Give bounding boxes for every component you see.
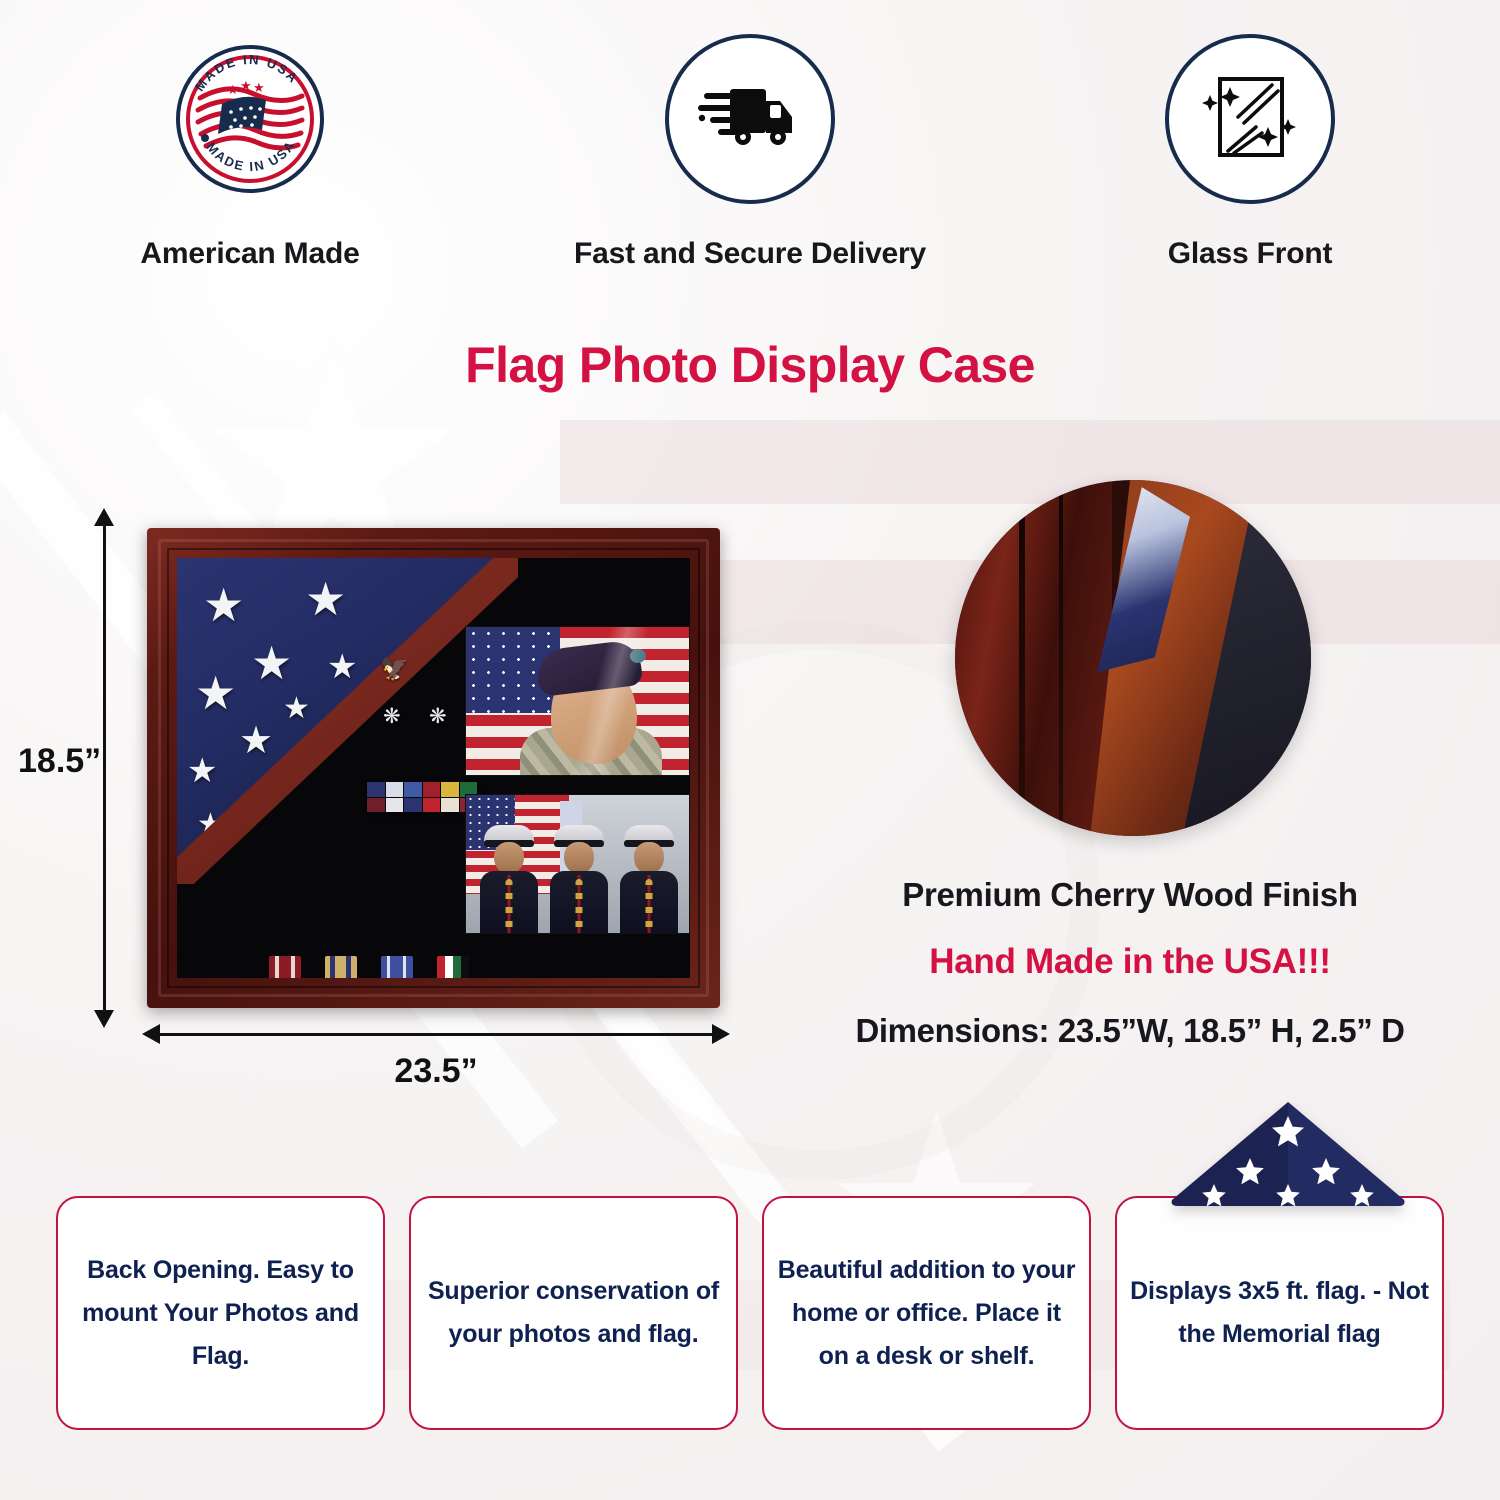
height-dimension-arrow <box>103 524 106 1012</box>
feature-fast-delivery: Fast and Secure Delivery <box>500 34 1000 276</box>
glass-pane-sparkle-icon <box>1165 34 1335 204</box>
marine-figure <box>550 825 608 933</box>
made-in-usa-badge-icon: ★ ★ ★ MADE IN USA MADE IN USA <box>165 34 335 204</box>
feature-box-flag-size[interactable]: Displays 3x5 ft. flag. - Not the Memoria… <box>1115 1196 1444 1430</box>
medal <box>381 956 415 978</box>
width-dimension-label: 23.5” <box>158 1052 714 1091</box>
medal <box>269 956 303 978</box>
case-interior: ★ ★ ★ ★ ★ ★ ★ ★ ★ 🦅 ❋ ❋ <box>177 558 690 978</box>
feature-glass-front: Glass Front <box>1000 34 1500 276</box>
marine-figure <box>480 825 538 933</box>
feature-box-back-opening[interactable]: Back Opening. Easy to mount Your Photos … <box>56 1196 385 1430</box>
case-photo-soldier <box>465 626 690 776</box>
medal <box>437 956 471 978</box>
feature-american-made: ★ ★ ★ MADE IN USA MADE IN USA American M… <box>0 34 500 276</box>
infographic-page: ★ ★ <box>0 0 1500 1500</box>
svg-text:★: ★ <box>240 78 252 93</box>
feature-label-fast-delivery: Fast and Secure Delivery <box>574 232 926 276</box>
delivery-truck-icon <box>665 34 835 204</box>
folded-flag-graphic <box>1168 1100 1408 1208</box>
feature-box-row: Back Opening. Easy to mount Your Photos … <box>56 1196 1444 1430</box>
width-dimension-arrow <box>158 1033 714 1036</box>
feature-box-text: Back Opening. Easy to mount Your Photos … <box>68 1249 373 1378</box>
product-display-case-image: ★ ★ ★ ★ ★ ★ ★ ★ ★ 🦅 ❋ ❋ <box>147 528 720 1008</box>
feature-box-conservation[interactable]: Superior conservation of your photos and… <box>409 1196 738 1430</box>
feature-label-glass-front: Glass Front <box>1168 232 1333 276</box>
case-photo-marines <box>465 794 690 934</box>
oak-leaf-insignia-icon: ❋ <box>429 704 447 729</box>
medal <box>325 956 359 978</box>
eagle-insignia-icon: 🦅 <box>380 655 405 682</box>
medal-row <box>269 956 471 978</box>
oak-leaf-insignia-icon: ❋ <box>383 704 401 729</box>
page-title: Flag Photo Display Case <box>0 336 1500 394</box>
detail-text-block: Premium Cherry Wood Finish Hand Made in … <box>780 876 1480 1050</box>
top-feature-strip: ★ ★ ★ MADE IN USA MADE IN USA American M… <box>0 34 1500 276</box>
detail-finish-label: Premium Cherry Wood Finish <box>780 876 1480 914</box>
feature-box-home-office[interactable]: Beautiful addition to your home or offic… <box>762 1196 1091 1430</box>
case-wood-frame: ★ ★ ★ ★ ★ ★ ★ ★ ★ 🦅 ❋ ❋ <box>147 528 720 1008</box>
marine-figure <box>620 825 678 933</box>
feature-label-american-made: American Made <box>140 232 359 276</box>
detail-dimensions-label: Dimensions: 23.5”W, 18.5” H, 2.5” D <box>780 1012 1480 1050</box>
svg-text:★: ★ <box>253 80 265 95</box>
ribbon-bar <box>367 782 477 812</box>
detail-handmade-label: Hand Made in the USA!!! <box>780 942 1480 982</box>
svg-text:★: ★ <box>227 82 239 97</box>
feature-box-text: Superior conservation of your photos and… <box>421 1270 726 1356</box>
feature-box-text: Beautiful addition to your home or offic… <box>774 1249 1079 1378</box>
feature-box-text: Displays 3x5 ft. flag. - Not the Memoria… <box>1127 1270 1432 1356</box>
height-dimension-label: 18.5” <box>18 742 101 781</box>
cherry-wood-closeup-image <box>955 480 1311 836</box>
